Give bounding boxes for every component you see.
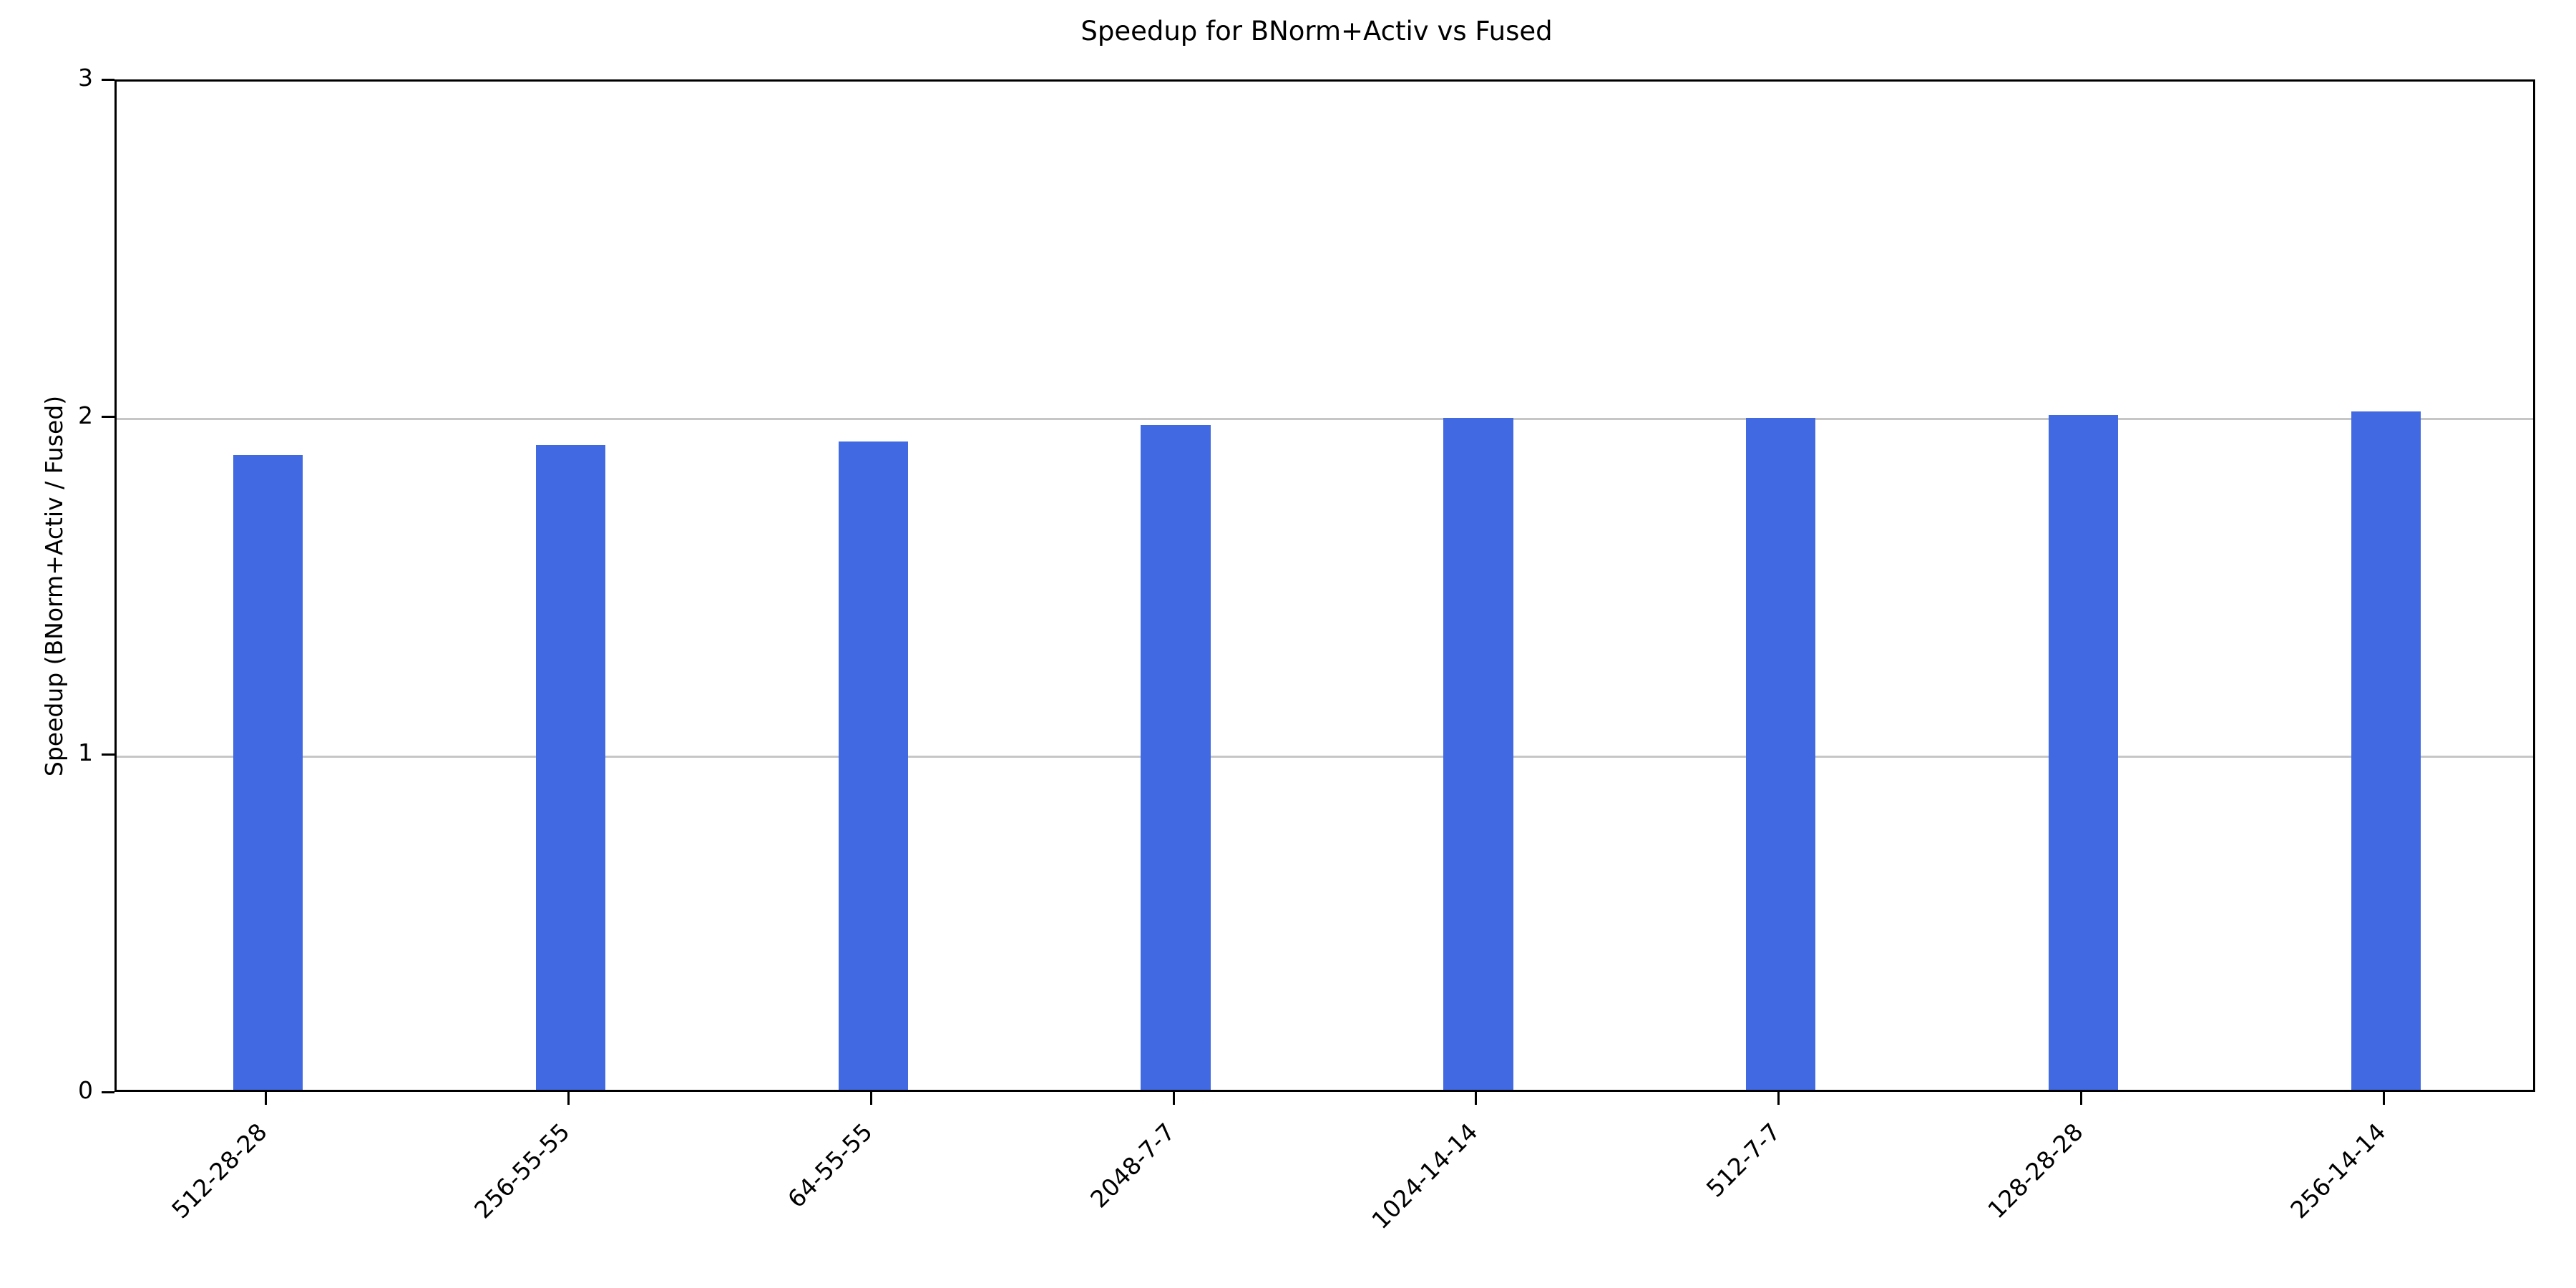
x-tick-mark — [265, 1092, 267, 1105]
y-tick-label: 0 — [43, 1076, 93, 1104]
x-tick-label: 64-55-55 — [782, 1118, 877, 1213]
x-tick-label: 128-28-28 — [1982, 1118, 2088, 1224]
x-tick-mark — [1475, 1092, 1477, 1105]
plot-area — [114, 79, 2535, 1092]
y-tick-label: 1 — [43, 738, 93, 766]
chart-figure: Speedup for BNorm+Activ vs Fused Speedup… — [0, 0, 2576, 1288]
x-tick-mark — [1173, 1092, 1175, 1105]
y-tick-mark — [102, 753, 114, 756]
x-tick-label: 2048-7-7 — [1085, 1118, 1180, 1213]
y-tick-label: 3 — [43, 64, 93, 92]
y-tick-mark — [102, 1091, 114, 1093]
x-tick-mark — [567, 1092, 570, 1105]
bar — [839, 441, 908, 1090]
x-tick-mark — [1777, 1092, 1780, 1105]
bar — [2351, 411, 2421, 1090]
y-tick-mark — [102, 79, 114, 81]
chart-title: Speedup for BNorm+Activ vs Fused — [114, 16, 2519, 47]
bar — [536, 445, 605, 1090]
x-tick-label: 512-7-7 — [1701, 1118, 1786, 1203]
bar — [1746, 418, 1815, 1090]
y-axis-label: Speedup (BNorm+Activ / Fused) — [40, 395, 68, 776]
x-tick-mark — [2080, 1092, 2082, 1105]
x-tick-label: 256-55-55 — [469, 1118, 575, 1224]
bar — [1443, 418, 1513, 1090]
y-tick-label: 2 — [43, 401, 93, 429]
bar — [1141, 425, 1210, 1090]
x-tick-mark — [870, 1092, 872, 1105]
x-tick-mark — [2383, 1092, 2385, 1105]
y-tick-mark — [102, 416, 114, 418]
bar — [233, 455, 303, 1090]
x-tick-label: 512-28-28 — [167, 1118, 273, 1224]
x-tick-label: 256-14-14 — [2285, 1118, 2391, 1224]
bar — [2049, 415, 2118, 1090]
bars-layer — [117, 82, 2533, 1090]
x-tick-label: 1024-14-14 — [1366, 1118, 1483, 1234]
